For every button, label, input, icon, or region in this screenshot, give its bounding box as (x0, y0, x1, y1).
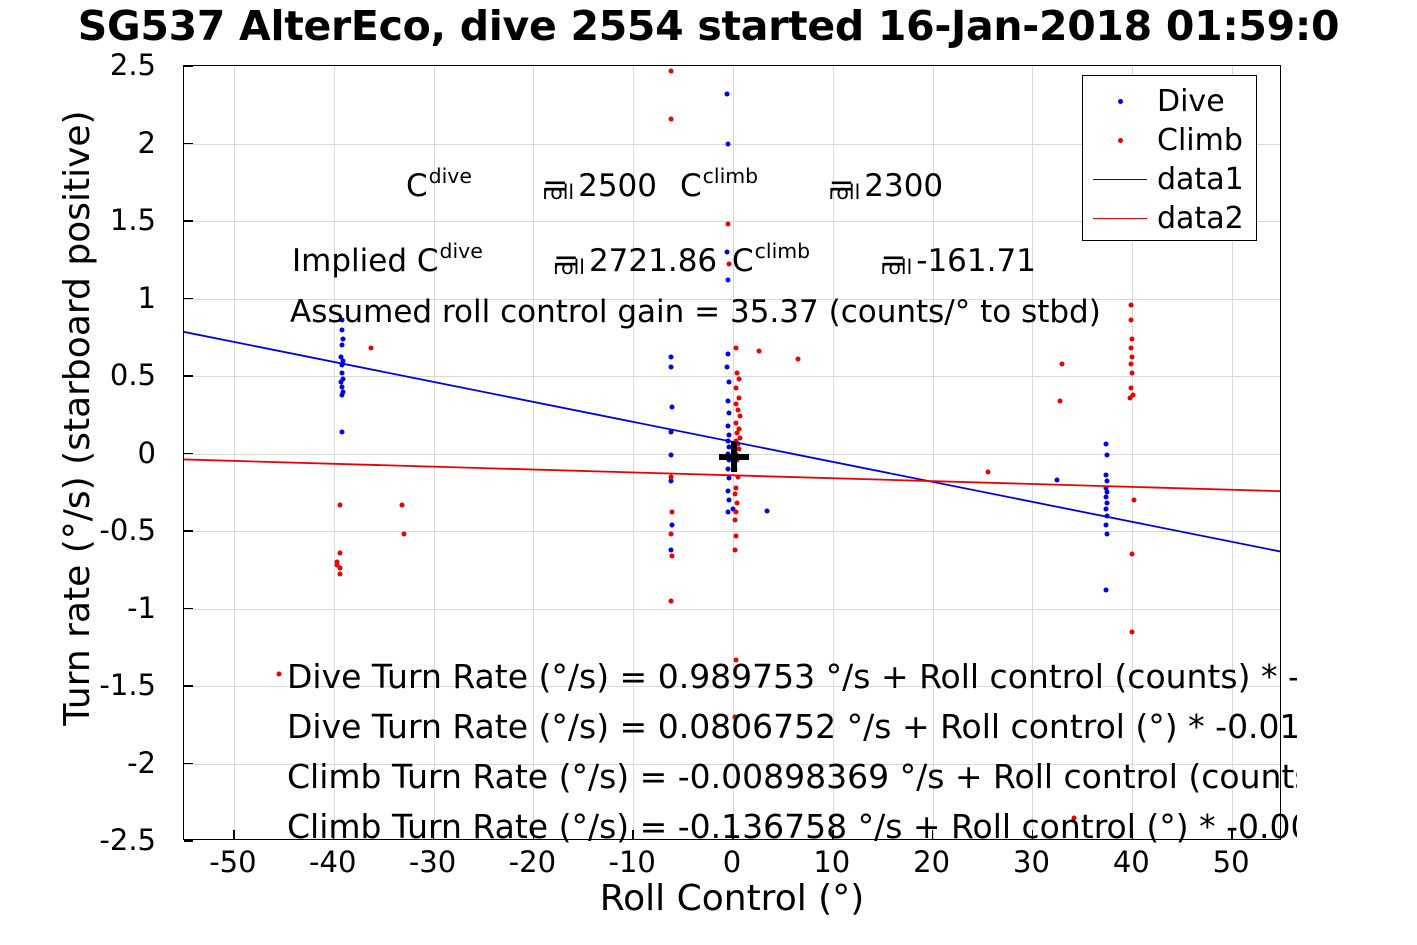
legend-item-data2[interactable]: data2 (1083, 199, 1256, 238)
annotation-c-climb: Cclimbroll= 2300 (680, 171, 943, 202)
annotation-c-dive: Cdiveroll= 2500 (406, 171, 657, 202)
y-axis-tick-label: 1 (0, 281, 168, 315)
x-axis-tick-label: -20 (509, 845, 556, 879)
equation-climb-counts: Climb Turn Rate (°/s) = -0.00898369 °/s … (287, 760, 1297, 793)
annotation-implied-c-climb: Cclimbroll= -161.71 (732, 246, 1036, 277)
legend-line-icon (1083, 218, 1157, 220)
legend-item-dive[interactable]: Dive (1083, 82, 1256, 121)
figure-root: SG537 AlterEco, dive 2554 started 16-Jan… (0, 0, 1417, 945)
y-axis-tick-label: 2 (0, 126, 168, 160)
equation-dive-degrees: Dive Turn Rate (°/s) = 0.0806752 °/s + R… (287, 710, 1297, 743)
x-axis-tick-label: 10 (813, 845, 850, 879)
legend-label: data1 (1157, 162, 1244, 197)
y-axis-tick-label: -1 (0, 591, 168, 625)
x-axis-tick-label: -50 (209, 845, 256, 879)
y-axis-tick-label: 1.5 (0, 203, 168, 237)
figure-title: SG537 AlterEco, dive 2554 started 16-Jan… (0, 0, 1417, 56)
y-axis-tick-label: 0.5 (0, 358, 168, 392)
legend-dot-icon (1083, 99, 1157, 104)
annotation-roll-gain: Assumed roll control gain = 35.37 (count… (290, 297, 1101, 328)
legend-item-climb[interactable]: Climb (1083, 121, 1256, 160)
y-axis-tick-label: -2.5 (0, 823, 168, 857)
x-axis-tick-label: 0 (723, 845, 741, 879)
annotation-implied-c-dive: Implied Cdiveroll= 2721.86 (292, 246, 717, 277)
equation-dive-counts: Dive Turn Rate (°/s) = 0.989753 °/s + Ro… (287, 660, 1297, 693)
legend-label: Dive (1157, 84, 1225, 119)
x-axis-tick-label: -40 (309, 845, 356, 879)
y-axis-tick-label: -2 (0, 746, 168, 780)
legend-line-icon (1083, 179, 1157, 181)
x-axis-label: Roll Control (°) (183, 878, 1281, 928)
y-axis-tick-label: -0.5 (0, 513, 168, 547)
x-axis-tick-label: -10 (608, 845, 655, 879)
y-axis-tick-label: 2.5 (0, 48, 168, 82)
mouse-cursor-crosshair (719, 442, 749, 472)
legend-item-data1[interactable]: data1 (1083, 160, 1256, 199)
x-axis-tick-label: 50 (1213, 845, 1250, 879)
x-axis-tick-label: 30 (1013, 845, 1050, 879)
legend-dot-icon (1083, 138, 1157, 143)
x-axis-tick-label: 40 (1113, 845, 1150, 879)
x-axis-tick-label: -30 (409, 845, 456, 879)
x-axis-tick-label: 20 (913, 845, 950, 879)
legend-label: data2 (1157, 201, 1244, 236)
equation-climb-degrees: Climb Turn Rate (°/s) = -0.136758 °/s + … (287, 810, 1297, 843)
legend[interactable]: DiveClimbdata1data2 (1082, 75, 1257, 241)
legend-label: Climb (1157, 123, 1243, 158)
y-axis-tick-label: 0 (0, 436, 168, 470)
y-axis-tick (184, 840, 193, 841)
y-axis-tick-label: -1.5 (0, 668, 168, 702)
